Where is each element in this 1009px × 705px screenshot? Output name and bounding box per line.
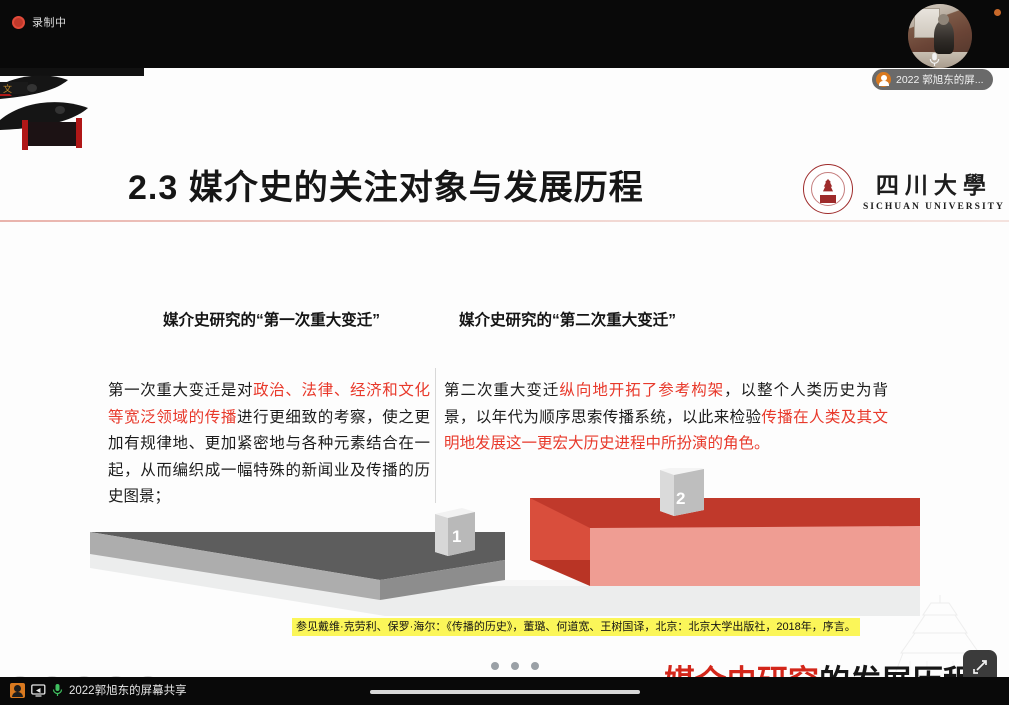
scu-pagoda-icon xyxy=(821,179,835,199)
body-text: 第二次重大变迁 xyxy=(444,382,559,399)
column-body-second: 第二次重大变迁纵向地开拓了参考构架，以整个人类历史为背景，以年代为顺序思索传播系… xyxy=(444,378,888,458)
column-heading-first: 媒介史研究的“第一次重大变迁” xyxy=(163,308,380,330)
meeting-window: 录制中 文 xyxy=(0,0,1009,705)
university-logo: 四川大學 SICHUAN UNIVERSITY xyxy=(803,164,1005,214)
university-name: 四川大學 SICHUAN UNIVERSITY xyxy=(863,166,1005,212)
svg-text:1: 1 xyxy=(452,527,461,546)
university-name-cn: 四川大學 xyxy=(876,166,992,200)
video-person-body xyxy=(934,20,954,54)
page-dot[interactable] xyxy=(491,662,499,670)
expand-button[interactable] xyxy=(963,650,997,677)
self-view-name-label: 2022 郭旭东的屏... xyxy=(896,72,984,87)
screen-share-status[interactable]: 2022郭旭东的屏幕共享 xyxy=(10,682,187,698)
citation-note: 参见戴维·克劳利、保罗·海尔：《传播的历史》，董璐、何道宽、王树国译，北京：北京… xyxy=(292,618,860,636)
microphone-active-icon xyxy=(52,683,63,697)
svg-text:文: 文 xyxy=(3,83,12,94)
university-name-en: SICHUAN UNIVERSITY xyxy=(863,202,1005,212)
screen-share-icon xyxy=(31,684,46,697)
column-heading-second: 媒介史研究的“第二次重大变迁” xyxy=(459,308,676,330)
participant-icon xyxy=(10,683,25,698)
pavilion-decoration-icon: 文 xyxy=(0,68,144,156)
screen-share-label: 2022郭旭东的屏幕共享 xyxy=(69,682,187,698)
slide-footer-text: 媒介史研究的发展历程 xyxy=(664,656,974,677)
page-indicator xyxy=(491,662,539,670)
self-view-name-chip: 2022 郭旭东的屏... xyxy=(872,69,993,90)
scu-pagoda-base-icon xyxy=(820,195,836,203)
page-dot[interactable] xyxy=(511,662,519,670)
title-divider xyxy=(0,220,1009,222)
status-dot-icon xyxy=(994,9,1001,16)
recording-indicator: 录制中 xyxy=(12,14,67,30)
self-view-mic-icon xyxy=(928,52,941,67)
svg-text:2: 2 xyxy=(676,489,685,508)
home-indicator[interactable] xyxy=(370,690,640,694)
slide-footer-text-red: 媒介史研究 xyxy=(664,664,819,677)
page-dot[interactable] xyxy=(531,662,539,670)
expand-arrow-icon xyxy=(971,658,989,676)
slide-footer-text-black: 的发展历程 xyxy=(819,664,974,677)
shared-slide: 文 2.3 媒介史的关注对象与发展历程 四川大學 SICHUAN UNIVERS… xyxy=(0,68,1009,677)
meeting-top-bar: 录制中 xyxy=(0,0,1009,68)
participant-avatar-icon xyxy=(876,72,891,87)
scu-seal-icon xyxy=(803,164,853,214)
emphasis-text: 纵向地开拓了参考构架 xyxy=(559,382,724,399)
body-text: 第一次重大变迁是对 xyxy=(108,382,253,399)
platform-graphic: 1 2 xyxy=(90,468,920,618)
video-person-head xyxy=(938,14,949,25)
recording-label: 录制中 xyxy=(32,14,67,30)
record-dot-icon xyxy=(12,16,25,29)
page-title: 2.3 媒介史的关注对象与发展历程 xyxy=(128,160,644,209)
